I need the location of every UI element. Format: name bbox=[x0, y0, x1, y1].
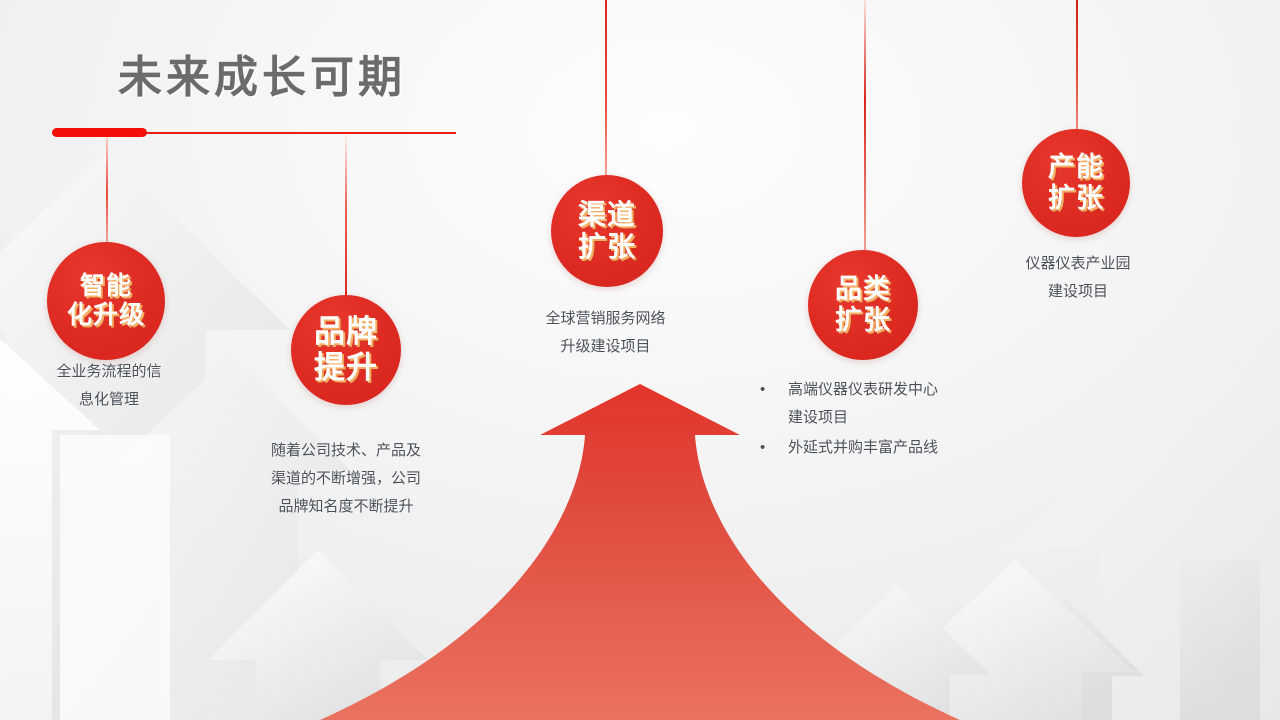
description-line: 建设项目 bbox=[788, 404, 1040, 432]
description-category-expansion: • 高端仪器仪表研发中心 建设项目 • 外延式并购丰富产品线 bbox=[760, 376, 1040, 463]
description-line: 全业务流程的信 bbox=[23, 358, 195, 386]
title-underline bbox=[52, 128, 456, 137]
bubble-label-line: 品牌 bbox=[314, 314, 378, 350]
slide-canvas: 未来成长可期 智能 化升级 全业务流程的信 息化管理 品牌 提升 随着公司技术、… bbox=[0, 0, 1280, 720]
bubble-label-line: 品类 bbox=[835, 274, 891, 305]
list-item-text: 高端仪器仪表研发中心 建设项目 bbox=[788, 376, 1040, 432]
description-line: 息化管理 bbox=[23, 386, 195, 414]
description-line: 建设项目 bbox=[988, 278, 1168, 306]
list-item-text: 外延式并购丰富产品线 bbox=[788, 434, 1040, 462]
background-arrow bbox=[805, 585, 991, 720]
bubble-label-line: 提升 bbox=[314, 350, 378, 386]
bubble-label-line: 扩张 bbox=[578, 231, 636, 263]
connector-line-4 bbox=[864, 0, 866, 252]
background-arrow bbox=[896, 560, 1134, 720]
background-arrow bbox=[60, 435, 170, 720]
background-arrow bbox=[988, 598, 1144, 720]
description-line: 渠道的不断增强，公司 bbox=[236, 465, 456, 493]
bubble-label-line: 扩张 bbox=[1048, 183, 1104, 214]
connector-line-1 bbox=[106, 133, 108, 243]
page-title: 未来成长可期 bbox=[52, 52, 472, 104]
description-intelligent-upgrade: 全业务流程的信 息化管理 bbox=[23, 358, 195, 414]
background-arrow bbox=[0, 150, 290, 720]
title-underline-thick bbox=[52, 128, 147, 137]
bubble-label-line: 扩张 bbox=[835, 305, 891, 336]
list-item: • 外延式并购丰富产品线 bbox=[760, 434, 1040, 462]
slide-title-block: 未来成长可期 bbox=[52, 52, 472, 104]
description-brand-enhancement: 随着公司技术、产品及 渠道的不断增强，公司 品牌知名度不断提升 bbox=[236, 437, 456, 520]
bubble-capacity-expansion[interactable]: 产能 扩张 bbox=[1022, 129, 1130, 237]
description-channel-expansion: 全球营销服务网络 升级建设项目 bbox=[513, 305, 698, 361]
bullet-icon: • bbox=[760, 434, 788, 462]
list-item: • 高端仪器仪表研发中心 建设项目 bbox=[760, 376, 1040, 432]
description-line: 全球营销服务网络 bbox=[513, 305, 698, 333]
bubble-label-line: 化升级 bbox=[67, 301, 145, 330]
background-arrow bbox=[208, 550, 428, 720]
description-line: 升级建设项目 bbox=[513, 333, 698, 361]
description-line: 仪器仪表产业园 bbox=[988, 250, 1168, 278]
description-line: 品牌知名度不断提升 bbox=[236, 493, 456, 521]
connector-line-2 bbox=[345, 134, 347, 297]
background-arrow bbox=[1180, 560, 1260, 720]
connector-line-3 bbox=[605, 0, 607, 176]
bubble-label-line: 智能 bbox=[80, 272, 132, 301]
bubble-brand-enhancement[interactable]: 品牌 提升 bbox=[291, 295, 401, 405]
description-line: 高端仪器仪表研发中心 bbox=[788, 376, 1040, 404]
description-line: 随着公司技术、产品及 bbox=[236, 437, 456, 465]
bubble-label-line: 产能 bbox=[1048, 152, 1104, 183]
bubble-channel-expansion[interactable]: 渠道 扩张 bbox=[551, 175, 663, 287]
description-capacity-expansion: 仪器仪表产业园 建设项目 bbox=[988, 250, 1168, 306]
bubble-label-line: 渠道 bbox=[578, 199, 636, 231]
bullet-icon: • bbox=[760, 376, 788, 404]
background-arrow bbox=[1005, 345, 1280, 720]
background-arrow bbox=[248, 565, 412, 720]
description-line: 外延式并购丰富产品线 bbox=[788, 434, 1040, 462]
bubble-category-expansion[interactable]: 品类 扩张 bbox=[808, 250, 918, 360]
bubble-intelligent-upgrade[interactable]: 智能 化升级 bbox=[47, 242, 165, 360]
connector-line-5 bbox=[1076, 0, 1078, 131]
